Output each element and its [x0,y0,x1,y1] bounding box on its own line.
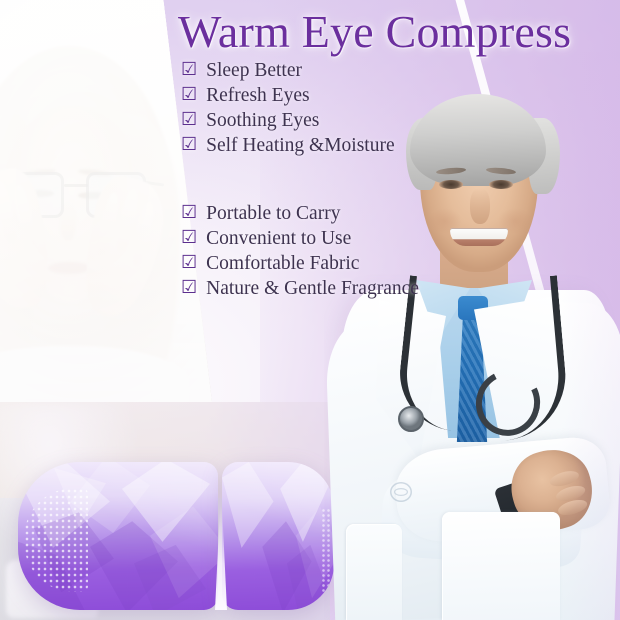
feature-label: Comfortable Fabric [206,253,359,275]
feature-item: ☑ Refresh Eyes [181,85,481,110]
eye-mask-left-pad [18,462,218,610]
feature-label: Portable to Carry [206,203,340,225]
feature-label: Self Heating &Moisture [206,135,394,157]
feature-item: ☑ Soothing Eyes [181,110,481,135]
checked-checkbox-icon: ☑ [181,253,197,271]
checked-checkbox-icon: ☑ [181,135,197,153]
feature-group-two: ☑ Portable to Carry ☑ Convenient to Use … [181,203,481,303]
feature-label: Refresh Eyes [206,85,309,107]
checked-checkbox-icon: ☑ [181,85,197,103]
product-marketing-image: Warm Eye Compress ☑ Sleep Better ☑ Refre… [0,0,620,620]
checked-checkbox-icon: ☑ [181,60,197,78]
feature-item: ☑ Portable to Carry [181,203,481,228]
checked-checkbox-icon: ☑ [181,203,197,221]
eye-mask-right-pad [222,462,334,610]
feature-item: ☑ Comfortable Fabric [181,253,481,278]
feature-list: ☑ Sleep Better ☑ Refresh Eyes ☑ Soothing… [181,60,481,303]
feature-item: ☑ Nature & Gentle Fragrance [181,278,481,303]
checked-checkbox-icon: ☑ [181,278,197,296]
feature-label: Convenient to Use [206,228,351,250]
facet [222,462,274,548]
feature-label: Nature & Gentle Fragrance [206,278,419,300]
doctor-coat-pocket-left [346,524,402,620]
stethoscope-icon [384,278,574,458]
stethoscope-chestpiece [398,406,424,432]
feature-item: ☑ Self Heating &Moisture [181,135,481,160]
doctor-eye-right [489,180,513,189]
checked-checkbox-icon: ☑ [181,228,197,246]
eye-mask-right-facets [222,462,334,610]
warm-eye-mask-product [18,462,334,610]
checked-checkbox-icon: ☑ [181,110,197,128]
feature-item: ☑ Convenient to Use [181,228,481,253]
feature-item: ☑ Sleep Better [181,60,481,85]
feature-label: Sleep Better [206,60,302,82]
page-title: Warm Eye Compress [178,8,612,56]
coat-emblem-icon [390,482,412,502]
feature-group-one: ☑ Sleep Better ☑ Refresh Eyes ☑ Soothing… [181,60,481,160]
doctor-coat-pocket-right [442,512,560,620]
feature-label: Soothing Eyes [206,110,319,132]
